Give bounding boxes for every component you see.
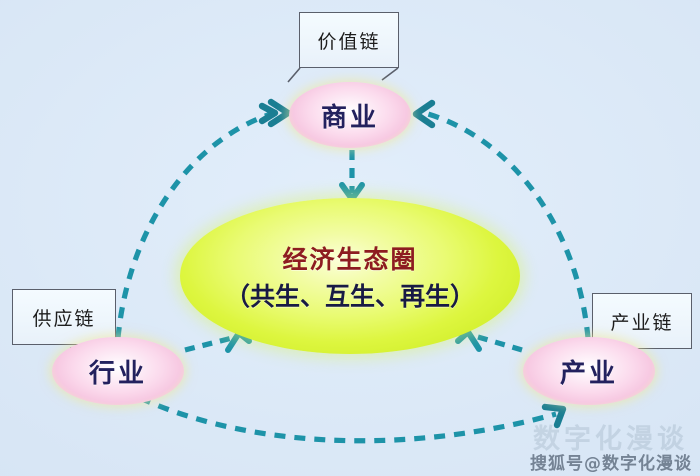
callout-value-chain-label: 价值链 xyxy=(317,27,380,54)
node-sector[interactable]: 产业 xyxy=(523,337,655,405)
arc-industry-to-sector xyxy=(140,398,556,441)
link-sector-to-core xyxy=(478,337,522,350)
callout-value-chain[interactable]: 价值链 xyxy=(299,12,399,68)
diagram-canvas: .dash{ fill:none; stroke:#1d93a8; stroke… xyxy=(0,0,700,476)
link-industry-to-core xyxy=(185,338,232,350)
node-commerce-label: 商业 xyxy=(321,97,379,134)
callout-supply-chain-label: 供应链 xyxy=(32,304,95,331)
arrowhead-inner-left xyxy=(262,106,275,121)
callout-industry-chain-label: 产业链 xyxy=(610,308,673,335)
node-industry-label: 行业 xyxy=(89,353,147,390)
core-subtitle: （共生、互生、再生） xyxy=(225,277,475,313)
callout-supply-chain[interactable]: 供应链 xyxy=(12,289,116,345)
node-commerce[interactable]: 商业 xyxy=(289,82,411,148)
core-ecosystem-ellipse[interactable]: 经济生态圈 （共生、互生、再生） xyxy=(180,198,520,354)
node-industry[interactable]: 行业 xyxy=(52,337,184,405)
node-sector-label: 产业 xyxy=(560,353,618,390)
core-title: 经济生态圈 xyxy=(282,240,417,276)
watermark-sohu: 搜狐号@数字化漫谈 xyxy=(530,449,692,474)
tail-value-chain xyxy=(288,68,398,82)
